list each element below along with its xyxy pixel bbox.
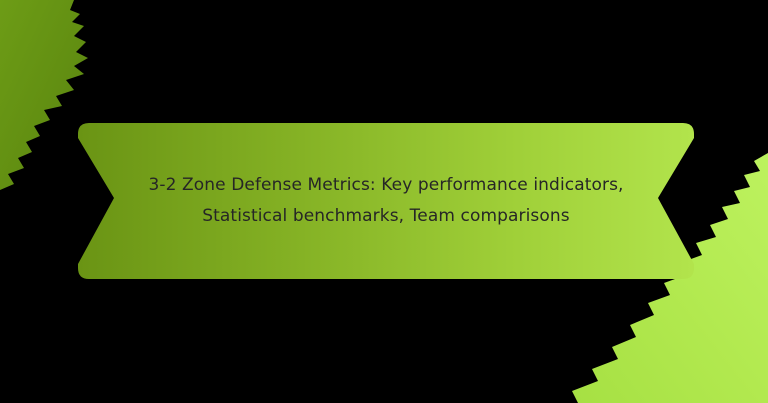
slide-canvas: 3-2 Zone Defense Metrics: Key performanc… [0,0,768,403]
title-banner: 3-2 Zone Defense Metrics: Key performanc… [66,120,706,282]
banner-line-2: Statistical benchmarks, Team comparisons [202,206,569,227]
banner-line-1: 3-2 Zone Defense Metrics: Key performanc… [148,175,623,196]
banner-text-block: 3-2 Zone Defense Metrics: Key performanc… [66,120,706,282]
